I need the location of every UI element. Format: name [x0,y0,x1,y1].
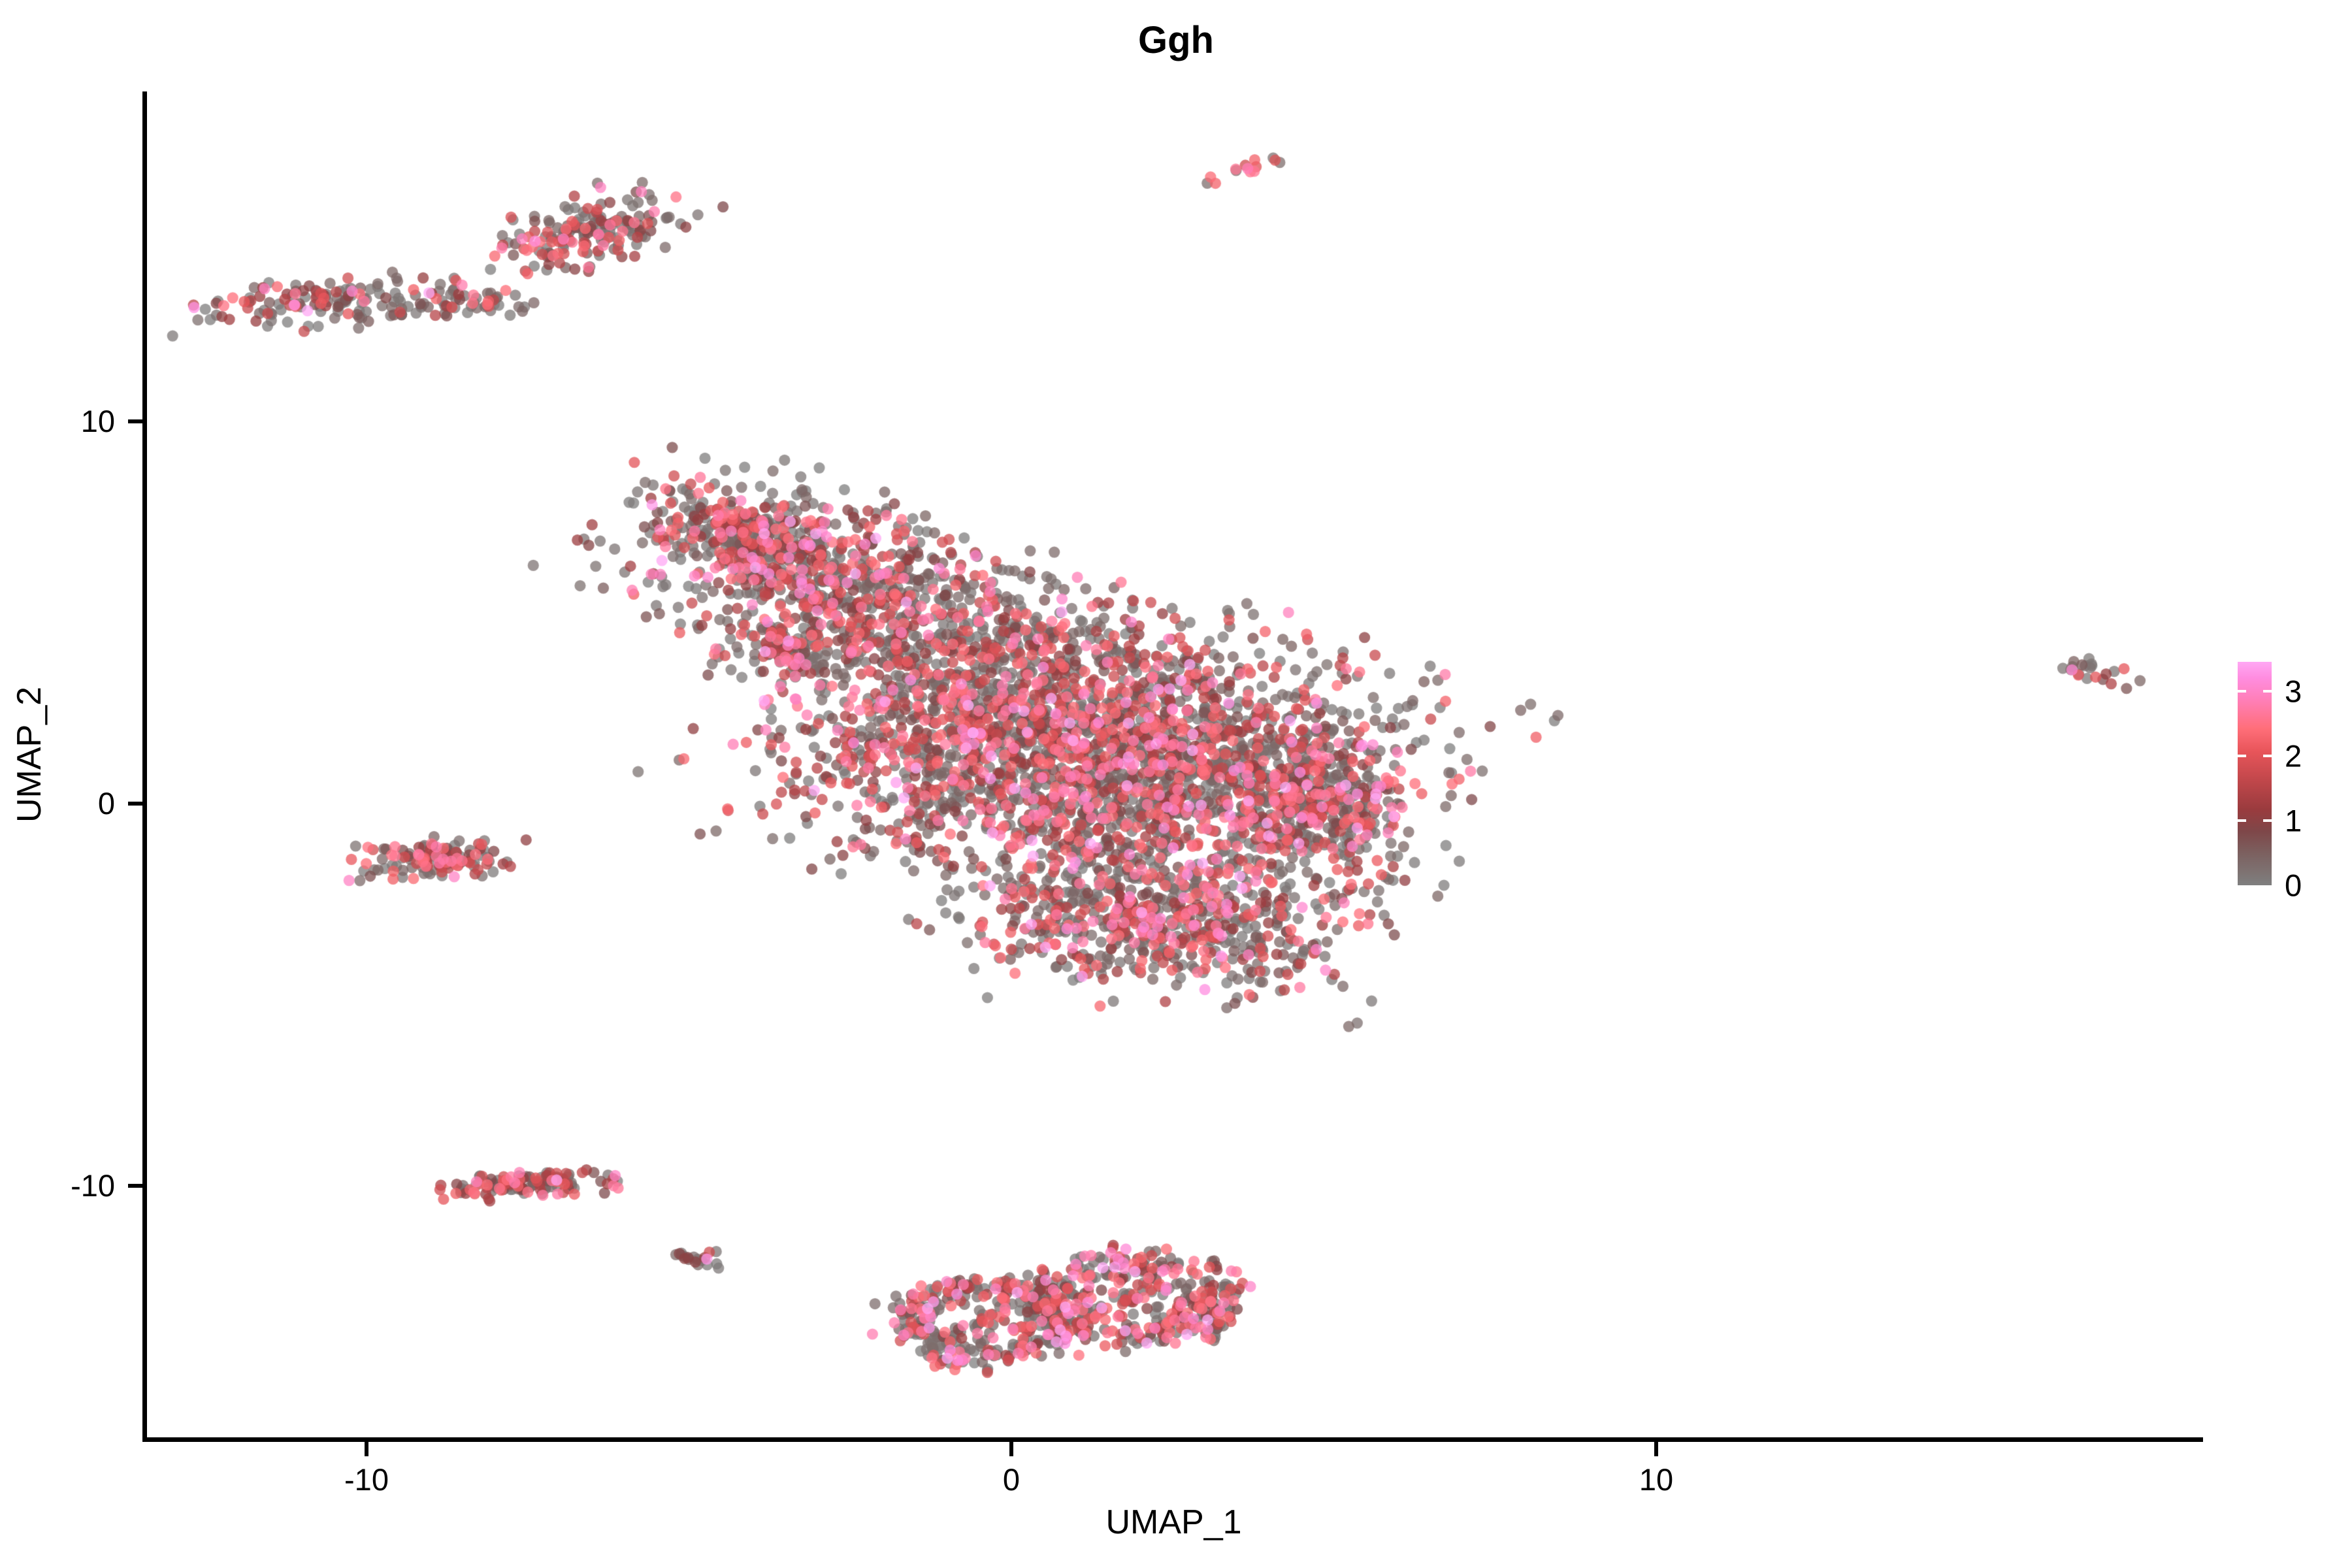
colorbar-label-3: 3 [2285,676,2302,706]
y-axis-title: UMAP_2 [10,585,49,924]
colorbar-tick-3-right [2263,690,2272,693]
x-tick-label-0: 0 [926,1462,1096,1497]
x-tick-label-10: 10 [1571,1462,1741,1497]
y-tick-label-neg10: -10 [0,1168,115,1203]
colorbar-label-1: 1 [2285,805,2302,836]
x-tick-label-neg10: -10 [282,1462,451,1497]
y-tick-mark-neg10 [128,1184,142,1188]
page-title: Ggh [0,18,2352,62]
y-tick-label-10: 10 [0,403,115,439]
x-tick-mark-0 [1009,1442,1013,1456]
x-axis-title: UMAP_1 [144,1503,2203,1542]
colorbar-tick-2-left [2238,755,2246,757]
colorbar-label-2: 2 [2285,740,2302,771]
feature-plot-figure: Ggh 10 0 -10 -10 0 10 UMAP_1 UMAP_2 3 2 … [0,0,2352,1568]
colorbar-legend: 3 2 1 0 [2238,662,2336,890]
colorbar-tick-2-right [2263,755,2272,757]
plot-panel [144,91,2203,1439]
x-tick-mark-10 [1654,1442,1658,1456]
y-tick-mark-10 [128,419,142,423]
y-tick-mark-0 [128,802,142,806]
scatter-plot-canvas [144,91,2203,1439]
x-axis-line [142,1437,2203,1442]
colorbar-tick-3-left [2238,690,2246,693]
colorbar-tick-1-right [2263,819,2272,822]
colorbar-gradient [2238,662,2272,885]
colorbar-label-0: 0 [2285,870,2302,901]
x-tick-mark-neg10 [365,1442,368,1456]
colorbar-tick-1-left [2238,819,2246,822]
y-axis-line [142,91,147,1441]
